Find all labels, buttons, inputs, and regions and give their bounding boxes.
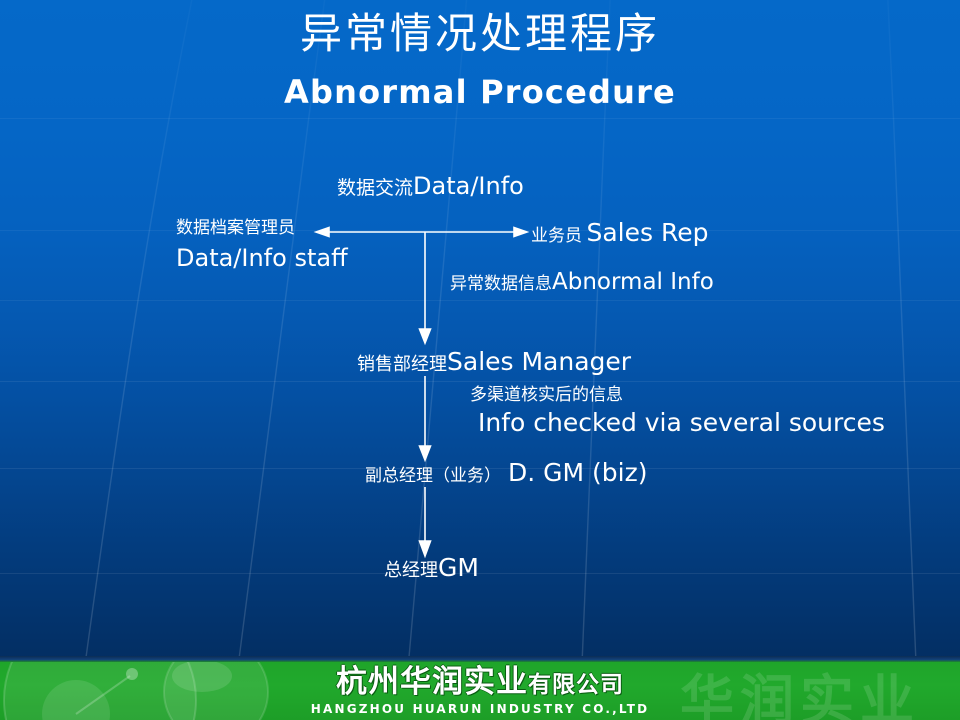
edge-label-abnormal-info: 异常数据信息Abnormal Info bbox=[450, 269, 714, 295]
edge-label-abnormal-info-en: Abnormal Info bbox=[552, 269, 714, 295]
node-data-info-staff: 数据档案管理员 Data/Info staff bbox=[176, 219, 348, 272]
node-deputy-gm: 副总经理（业务）D. GM (biz) bbox=[365, 459, 647, 488]
node-deputy-gm-cn: 副总经理（业务） bbox=[365, 466, 501, 486]
arrowhead-down-2 bbox=[420, 446, 431, 460]
node-sales-manager-cn: 销售部经理 bbox=[357, 354, 447, 375]
arrowhead-down-1 bbox=[420, 329, 431, 343]
edge-label-info-checked: 多渠道核实后的信息 Info checked via several sourc… bbox=[470, 386, 885, 437]
node-general-manager: 总经理GM bbox=[384, 554, 479, 583]
node-general-manager-cn: 总经理 bbox=[384, 560, 438, 581]
company-name-chinese: 杭州华润实业有限公司 bbox=[0, 665, 960, 702]
node-sales-rep-cn: 业务员 bbox=[531, 226, 582, 246]
footer-logo-text: 杭州华润实业有限公司 HANGZHOU HUARUN INDUSTRY CO.,… bbox=[0, 662, 960, 717]
node-sales-rep-en: Sales Rep bbox=[586, 218, 708, 247]
node-general-manager-en: GM bbox=[438, 553, 479, 582]
node-sales-manager: 销售部经理Sales Manager bbox=[357, 348, 631, 377]
company-name-chinese-suffix: 有限公司 bbox=[528, 672, 624, 698]
edge-label-info-checked-en: Info checked via several sources bbox=[478, 409, 885, 438]
company-name-english: HANGZHOU HUARUN INDUSTRY CO.,LTD bbox=[0, 702, 960, 717]
node-sales-rep: 业务员 Sales Rep bbox=[531, 219, 708, 248]
edge-label-data-info-cn: 数据交流 bbox=[337, 177, 413, 199]
node-sales-manager-en: Sales Manager bbox=[447, 347, 631, 376]
node-deputy-gm-en: D. GM (biz) bbox=[501, 458, 647, 487]
page-title-chinese: 异常情况处理程序 bbox=[0, 6, 960, 62]
edge-label-abnormal-info-cn: 异常数据信息 bbox=[450, 274, 552, 294]
node-data-info-staff-cn: 数据档案管理员 bbox=[176, 218, 295, 238]
edge-label-info-checked-cn: 多渠道核实后的信息 bbox=[470, 385, 623, 405]
arrowhead-right bbox=[514, 228, 527, 237]
edge-label-data-info: 数据交流Data/Info bbox=[337, 173, 524, 201]
company-footer-band: 华润实业 杭州华润实业有限公司 HANGZHOU HUARUN INDUSTRY… bbox=[0, 662, 960, 720]
slide-canvas: 异常情况处理程序 Abnormal Procedure 数据交流Data/Inf… bbox=[0, 0, 960, 720]
node-data-info-staff-en: Data/Info staff bbox=[176, 245, 348, 273]
edge-label-data-info-en: Data/Info bbox=[413, 172, 524, 200]
page-title-english: Abnormal Procedure bbox=[0, 70, 960, 114]
company-name-chinese-main: 杭州华润实业 bbox=[336, 664, 528, 700]
title-block: 异常情况处理程序 Abnormal Procedure bbox=[0, 6, 960, 114]
